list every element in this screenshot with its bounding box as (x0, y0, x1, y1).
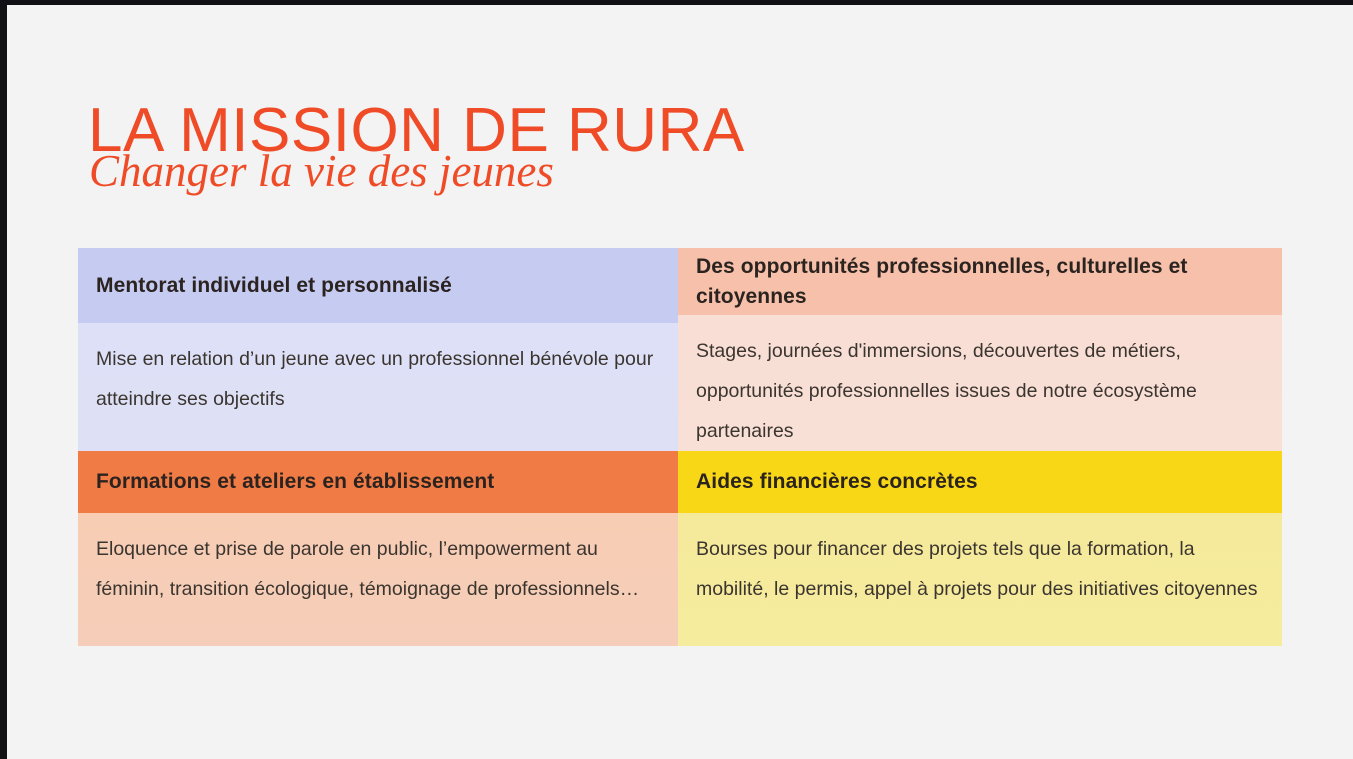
panel-body: Eloquence et prise de parole en public, … (78, 513, 678, 646)
panel-heading: Mentorat individuel et personnalisé (78, 248, 678, 323)
panel-body: Bourses pour financer des projets tels q… (678, 513, 1282, 646)
presentation-slide: LA MISSION DE RURA Changer la vie des je… (7, 5, 1353, 759)
letterbox-bar-left (0, 0, 7, 759)
slide-title-block: LA MISSION DE RURA Changer la vie des je… (88, 98, 988, 208)
mission-panel-grid: Mentorat individuel et personnalisé Mise… (78, 248, 1282, 646)
panel-formations: Formations et ateliers en établissement … (78, 451, 678, 646)
panel-body-text: Stages, journées d'immersions, découvert… (696, 331, 1264, 451)
panel-body: Stages, journées d'immersions, découvert… (678, 315, 1282, 451)
panel-body-text: Mise en relation d’un jeune avec un prof… (96, 339, 660, 419)
panel-opportunites: Des opportunités professionnelles, cultu… (678, 248, 1282, 451)
panel-body: Mise en relation d’un jeune avec un prof… (78, 323, 678, 451)
panel-heading: Formations et ateliers en établissement (78, 451, 678, 513)
panel-heading: Aides financières concrètes (678, 451, 1282, 513)
panel-mentorat: Mentorat individuel et personnalisé Mise… (78, 248, 678, 451)
panel-aides-financieres: Aides financières concrètes Bourses pour… (678, 451, 1282, 646)
panel-heading: Des opportunités professionnelles, cultu… (678, 248, 1282, 315)
slide-subtitle: Changer la vie des jeunes (89, 145, 554, 197)
panel-body-text: Bourses pour financer des projets tels q… (696, 529, 1264, 609)
panel-body-text: Eloquence et prise de parole en public, … (96, 529, 660, 609)
